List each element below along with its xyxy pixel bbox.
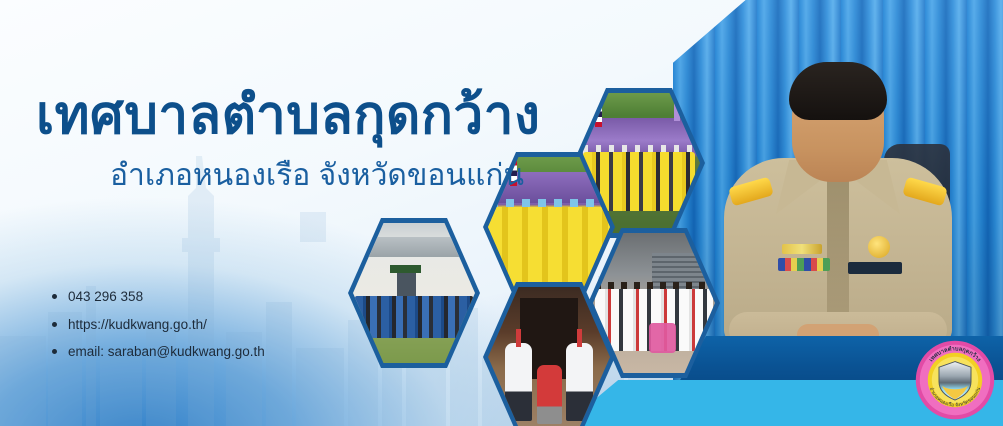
mayor-figure <box>720 44 956 344</box>
municipality-banner: เทศบาลตำบลกุดกว้าง อำเภอหนองเรือ จังหวัด… <box>0 0 1003 426</box>
mayor-portrait-panel <box>673 0 1003 392</box>
contact-list: 043 296 358 https://kudkwang.go.th/ emai… <box>52 290 265 373</box>
contact-item-website[interactable]: https://kudkwang.go.th/ <box>52 318 265 332</box>
photo-scene <box>488 287 610 426</box>
contact-phone-text: 043 296 358 <box>68 290 143 304</box>
bullet-icon <box>52 349 57 354</box>
wing-badge-icon <box>782 244 822 254</box>
wheelchair-icon <box>537 365 563 424</box>
page-title: เทศบาลตำบลกุดกว้าง <box>36 88 540 144</box>
pink-wheelchair-icon <box>649 323 676 354</box>
bullet-icon <box>52 294 57 299</box>
photo-scene <box>353 223 475 363</box>
ribbon-bar-icon <box>778 258 830 271</box>
name-plate <box>848 262 902 274</box>
page-subtitle: อำเภอหนองเรือ จังหวัดขอนแก่น <box>110 158 524 194</box>
municipality-seal-logo[interactable]: เทศบาลตำบลกุดกว้าง อำเภอหนองเรือ จังหวัด… <box>915 340 995 420</box>
epaulette-left-icon <box>728 177 774 207</box>
hair <box>789 62 887 120</box>
contact-website-text: https://kudkwang.go.th/ <box>68 318 207 332</box>
contact-item-phone[interactable]: 043 296 358 <box>52 290 265 304</box>
contact-item-email[interactable]: email: saraban@kudkwang.go.th <box>52 345 265 359</box>
chest-crest-icon <box>868 236 890 258</box>
contact-email-text: email: saraban@kudkwang.go.th <box>68 345 265 359</box>
bullet-icon <box>52 322 57 327</box>
